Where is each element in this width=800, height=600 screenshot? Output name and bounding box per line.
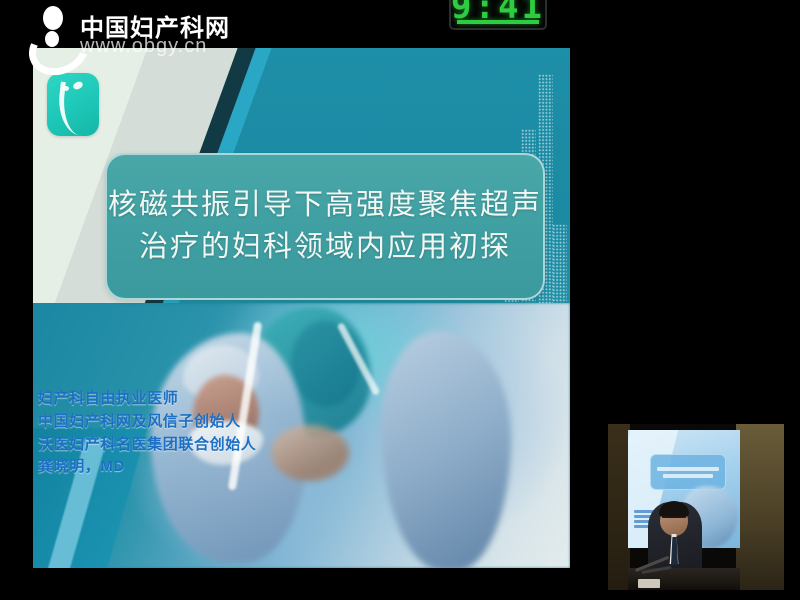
presenter-credentials: 妇产科自由执业医师 中国妇产科网及风信子创始人 沃医妇产科名医集团联合创始人 龚… bbox=[38, 388, 318, 479]
slide-title-line-1: 核磁共振引导下高强度聚焦超声 bbox=[108, 185, 542, 226]
speaker-camera-pip[interactable] bbox=[608, 424, 784, 590]
pip-laptop bbox=[638, 579, 660, 588]
pip-speaker-glasses bbox=[662, 516, 686, 523]
pip-slide-title-box bbox=[650, 454, 726, 490]
slide-title-line-2: 治疗的妇科领域内应用初探 bbox=[139, 227, 511, 268]
photo-surgeon-right bbox=[381, 331, 511, 568]
watermark-child-head-shape bbox=[45, 31, 59, 47]
flower-stem-logo-icon bbox=[47, 73, 99, 136]
credential-line-2: 中国妇产科网及风信子创始人 bbox=[38, 411, 318, 434]
presentation-slide: 核磁共振引导下高强度聚焦超声 治疗的妇科领域内应用初探 妇产科自由执业医师 中国… bbox=[33, 48, 570, 568]
badge-bud-shape bbox=[63, 86, 69, 91]
pip-wall-right bbox=[736, 424, 784, 590]
pip-wall-left bbox=[608, 424, 630, 590]
clock-underline bbox=[457, 20, 539, 24]
badge-stem-shape bbox=[55, 82, 91, 136]
credential-line-4: 龚晓明，MD bbox=[38, 456, 318, 479]
video-player-stage: 9:41 中国妇产科网 www.obgy.cn bbox=[0, 0, 800, 600]
credential-line-1: 妇产科自由执业医师 bbox=[38, 388, 318, 411]
countdown-clock: 9:41 bbox=[449, 0, 547, 30]
credential-line-3: 沃医妇产科名医集团联合创始人 bbox=[38, 434, 318, 457]
watermark-channel-name: 中国妇产科网 bbox=[80, 8, 230, 43]
slide-title-box: 核磁共振引导下高强度聚焦超声 治疗的妇科领域内应用初探 bbox=[105, 153, 545, 300]
pip-title-line-2 bbox=[663, 474, 713, 478]
watermark-head-shape bbox=[43, 6, 63, 30]
pip-title-line-1 bbox=[657, 467, 719, 471]
